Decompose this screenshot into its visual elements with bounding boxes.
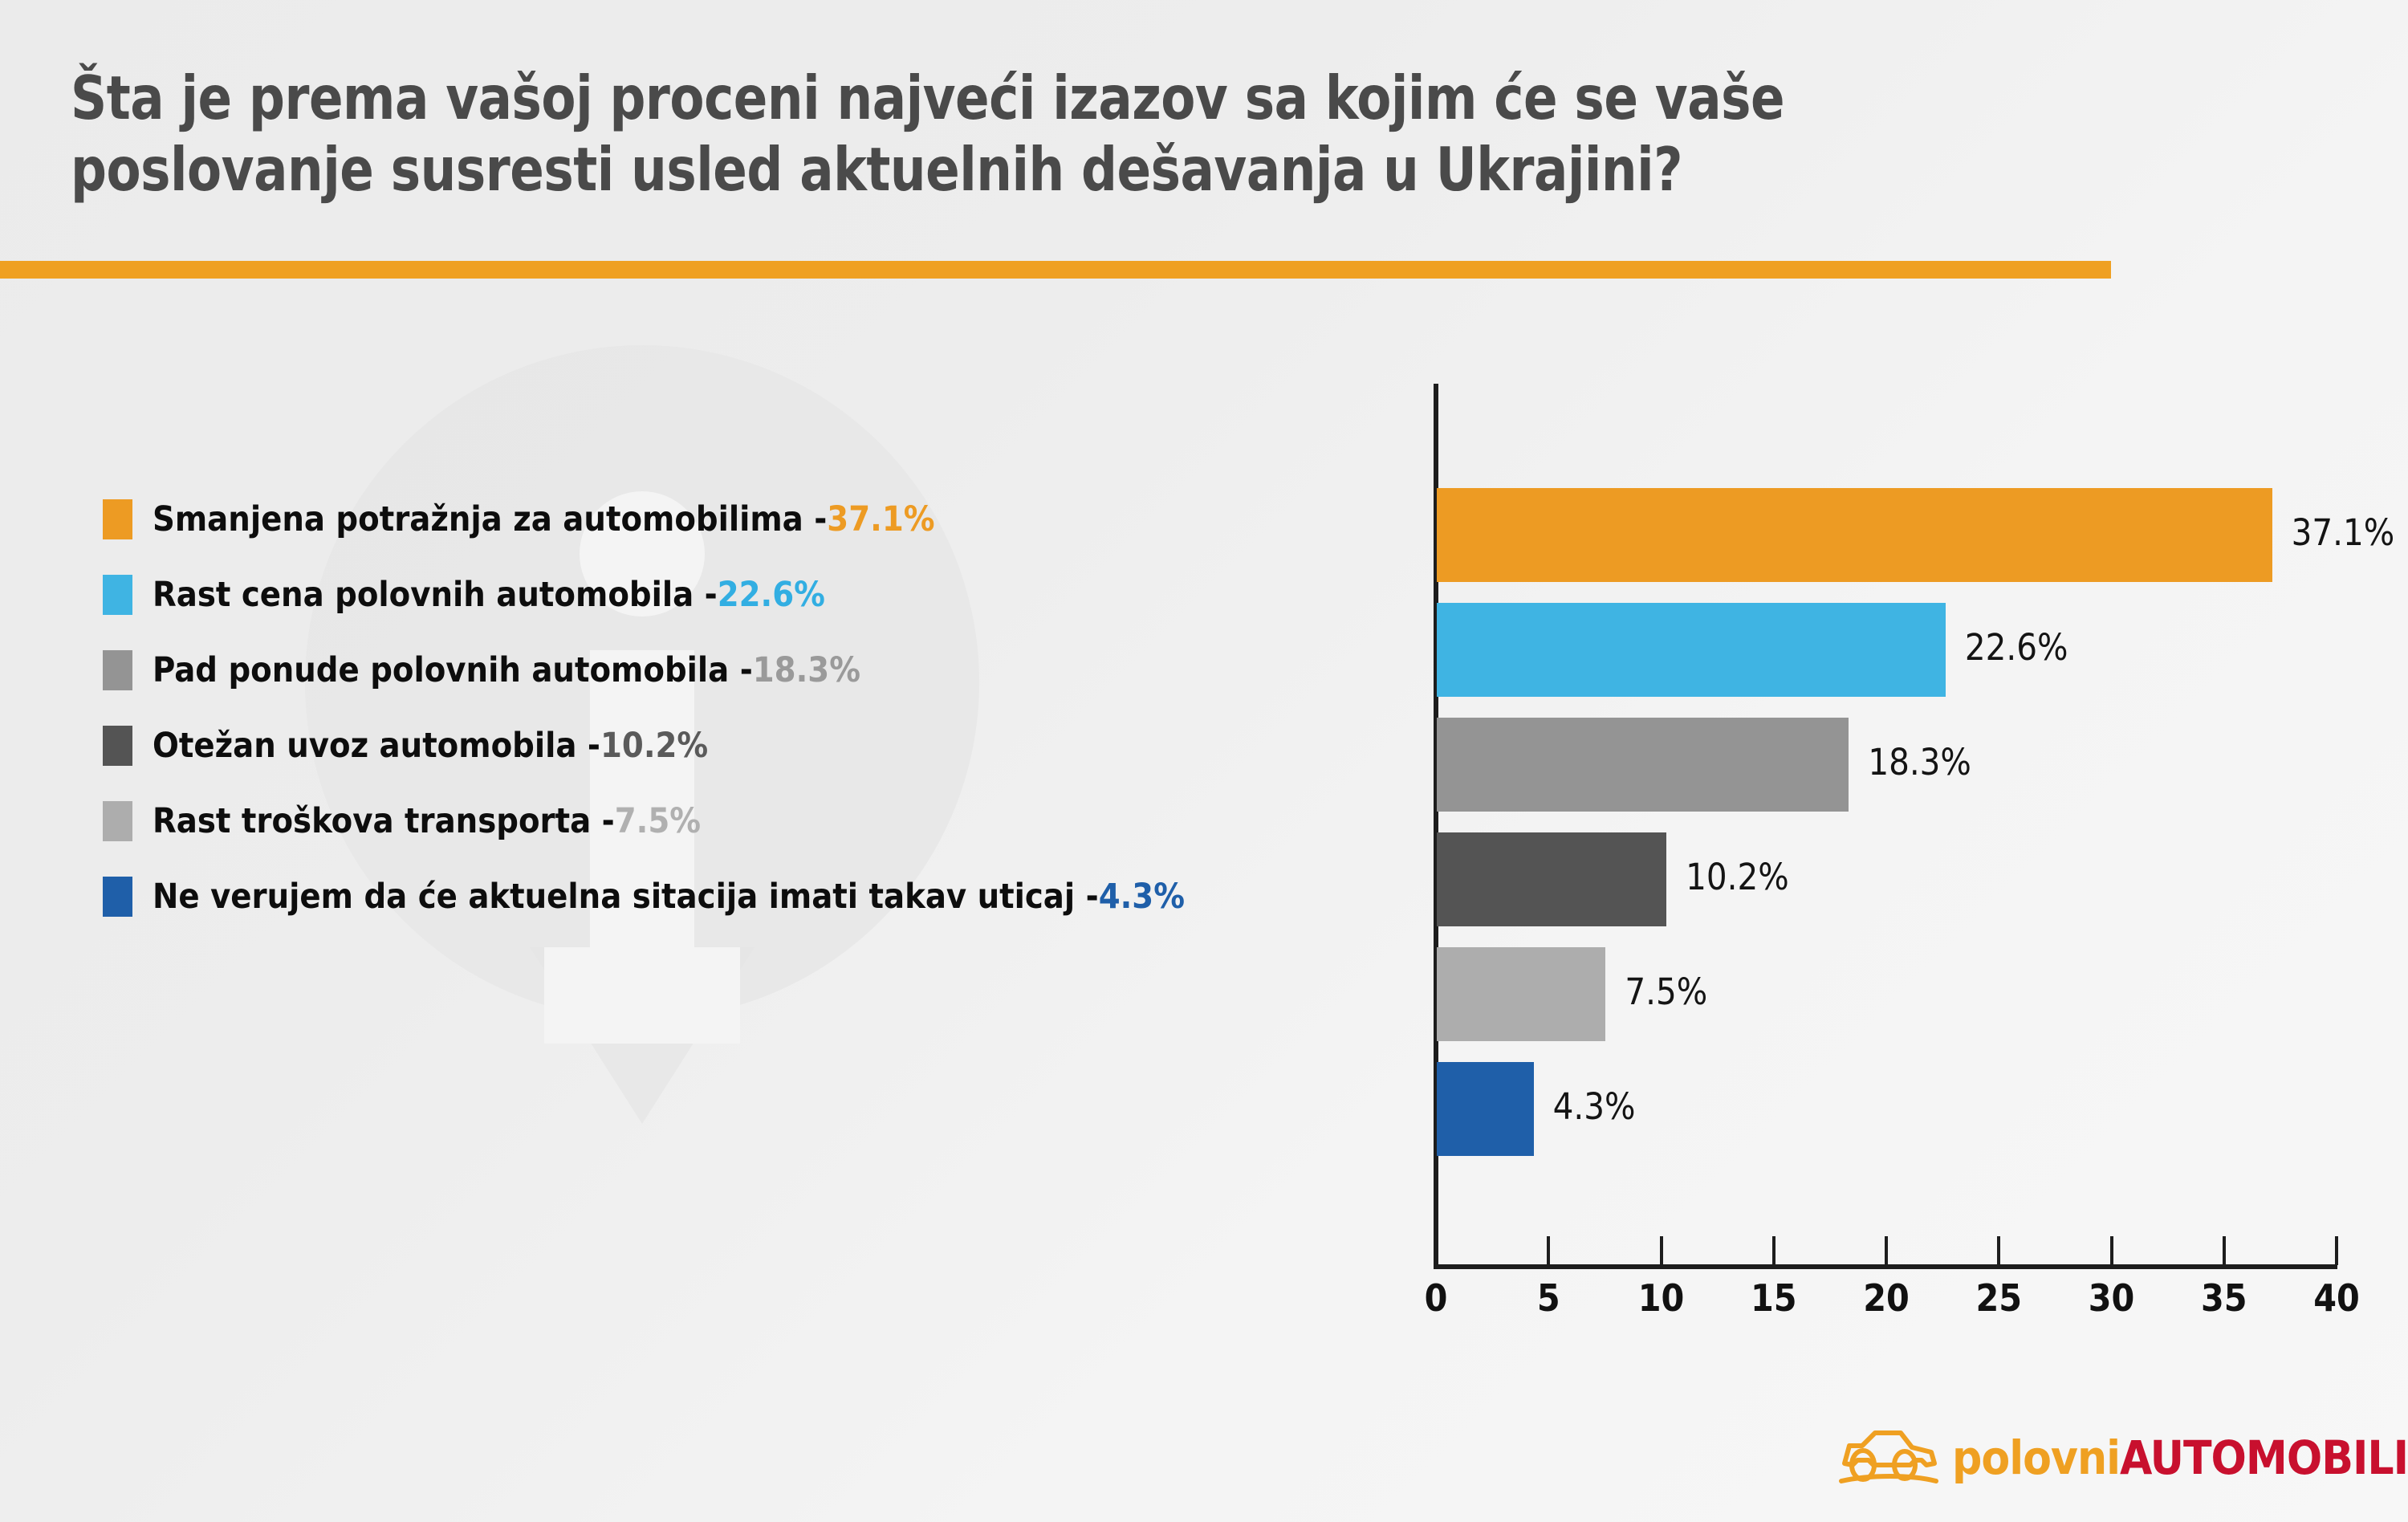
legend-color-swatch — [103, 499, 132, 539]
x-axis-tick-label: 15 — [1738, 1276, 1810, 1320]
legend-color-swatch — [103, 650, 132, 690]
legend-item: Rast troškova transporta - 7.5% — [103, 783, 1451, 859]
x-axis-tick-label: 30 — [2076, 1276, 2148, 1320]
bar — [1437, 832, 1666, 926]
legend-item-value: 10.2% — [600, 726, 708, 766]
bar — [1437, 947, 1605, 1041]
x-axis-tick — [2223, 1236, 2226, 1265]
infographic-canvas: Šta je prema vašoj proceni najveći izazo… — [0, 0, 2408, 1522]
bar — [1437, 603, 1946, 697]
bar-chart: 0510152025303540 37.1%22.6%18.3%10.2%7.5… — [1434, 384, 2373, 1331]
x-axis-tick — [1434, 1236, 1438, 1265]
x-axis-tick-label: 35 — [2188, 1276, 2260, 1320]
legend-item: Pad ponude polovnih automobila - 18.3% — [103, 633, 1451, 708]
title-line-2: poslovanje susresti usled aktuelnih deša… — [71, 134, 2041, 206]
x-axis-tick-label: 0 — [1400, 1276, 1472, 1320]
x-axis-tick-label: 10 — [1625, 1276, 1698, 1320]
legend-item-label: Rast troškova transporta - — [153, 801, 615, 841]
x-axis-tick — [1772, 1236, 1775, 1265]
bar — [1437, 1062, 1534, 1156]
legend: Smanjena potražnja za automobilima - 37.… — [103, 482, 1451, 934]
x-axis-tick — [1547, 1236, 1550, 1265]
x-axis-tick-label: 5 — [1512, 1276, 1584, 1320]
legend-item: Otežan uvoz automobila - 10.2% — [103, 708, 1451, 783]
brand-logo-text: polovniAUTOMOBILI — [1952, 1430, 2408, 1485]
legend-item-value: 4.3% — [1099, 877, 1185, 917]
bar-value-label: 37.1% — [2292, 511, 2395, 554]
header: Šta je prema vašoj proceni najveći izazo… — [0, 0, 2408, 289]
legend-item: Ne verujem da će aktuelna sitacija imati… — [103, 859, 1451, 934]
bar-value-label: 22.6% — [1965, 626, 2068, 669]
x-axis-tick — [2110, 1236, 2113, 1265]
legend-color-swatch — [103, 726, 132, 766]
x-axis-tick — [1997, 1236, 2000, 1265]
bar — [1437, 488, 2272, 582]
bar-value-label: 18.3% — [1868, 741, 1971, 783]
legend-item-value: 37.1% — [827, 499, 934, 539]
legend-item: Rast cena polovnih automobila - 22.6% — [103, 557, 1451, 633]
brand-name-part2: AUTOMOBILI — [2120, 1430, 2408, 1485]
bar — [1437, 718, 1849, 812]
x-axis-tick — [1660, 1236, 1663, 1265]
x-axis-tick-label: 40 — [2300, 1276, 2373, 1320]
title-divider — [0, 261, 2111, 279]
legend-item-value: 7.5% — [615, 801, 701, 841]
bar-value-label: 7.5% — [1625, 971, 1707, 1013]
brand-logo[interactable]: polovniAUTOMOBILI — [1838, 1421, 2408, 1495]
legend-item-label: Pad ponude polovnih automobila - — [153, 650, 753, 690]
legend-item-value: 18.3% — [753, 650, 860, 690]
title-line-1: Šta je prema vašoj proceni najveći izazo… — [71, 63, 2041, 134]
bar-value-label: 10.2% — [1686, 856, 1789, 898]
legend-color-swatch — [103, 877, 132, 917]
page-title: Šta je prema vašoj proceni najveći izazo… — [71, 63, 2041, 205]
legend-item-label: Ne verujem da će aktuelna sitacija imati… — [153, 877, 1099, 917]
legend-item-label: Rast cena polovnih automobila - — [153, 575, 718, 615]
x-axis-tick — [1885, 1236, 1888, 1265]
legend-item-value: 22.6% — [718, 575, 825, 615]
x-axis-tick-label: 25 — [1963, 1276, 2035, 1320]
legend-item-label: Otežan uvoz automobila - — [153, 726, 600, 766]
car-icon — [1838, 1428, 1941, 1487]
legend-item-label: Smanjena potražnja za automobilima - — [153, 499, 827, 539]
legend-color-swatch — [103, 801, 132, 841]
x-axis-tick-label: 20 — [1850, 1276, 1922, 1320]
x-axis-tick — [2335, 1236, 2338, 1265]
legend-item: Smanjena potražnja za automobilima - 37.… — [103, 482, 1451, 557]
bar-value-label: 4.3% — [1553, 1085, 1636, 1128]
brand-name-part1: polovni — [1952, 1430, 2120, 1485]
legend-color-swatch — [103, 575, 132, 615]
